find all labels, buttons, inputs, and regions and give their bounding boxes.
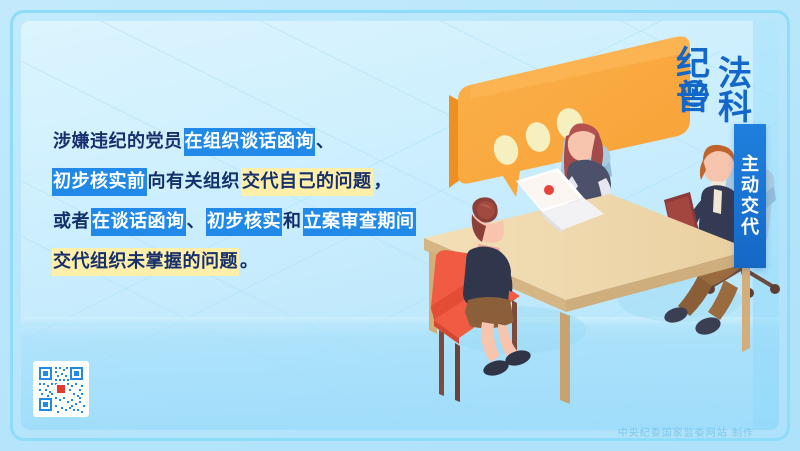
- footer-credit: 中央纪委国家监委网站 制作: [618, 424, 754, 439]
- ribbon-char-0: 主: [741, 156, 759, 174]
- text-segment-yellow: 交代组织未掌握的问题: [52, 248, 239, 276]
- text-segment-plain: 、: [186, 208, 207, 236]
- laptop-logo: [544, 185, 554, 195]
- statement-line-3: 或者在谈话函询、初步核实和立案审查期间: [52, 202, 432, 242]
- text-segment-yellow: 交代自己的问题: [241, 168, 373, 196]
- text-segment-plain: 向有关组织: [147, 168, 242, 196]
- text-segment-plain: 、: [315, 128, 336, 156]
- qr-code[interactable]: [33, 361, 89, 417]
- text-segment-lead: 涉嫌违纪的党员: [52, 128, 184, 156]
- main-statement-text: 涉嫌违纪的党员在组织谈话函询、初步核实前向有关组织交代自己的问题，或者在谈话函询…: [52, 122, 432, 282]
- play-icon: [681, 80, 708, 107]
- text-segment-plain: ，: [373, 168, 394, 196]
- brand-logo[interactable]: 纪 法 普 科: [674, 36, 774, 132]
- statement-line-2: 初步核实前向有关组织交代自己的问题，: [52, 162, 432, 202]
- statement-line-4: 交代组织未掌握的问题。: [52, 242, 432, 282]
- ribbon-char-2: 交: [741, 198, 759, 216]
- vertical-ribbon-banner: 主动交代: [734, 124, 766, 268]
- text-segment-plain: 或者: [52, 208, 91, 236]
- logo-char-ke: 科: [718, 80, 752, 129]
- text-segment-plain: 。: [239, 248, 260, 276]
- text-segment-plain: 和: [282, 208, 303, 236]
- text-segment-blue: 在谈话函询: [91, 208, 186, 236]
- poster-canvas: 涉嫌违纪的党员在组织谈话函询、初步核实前向有关组织交代自己的问题，或者在谈话函询…: [0, 0, 800, 451]
- text-segment-blue: 初步核实前: [52, 168, 147, 196]
- text-segment-blue: 立案审查期间: [303, 208, 416, 236]
- ribbon-char-3: 代: [741, 219, 759, 237]
- text-segment-blue: 在组织谈话函询: [184, 128, 316, 156]
- statement-line-1: 涉嫌违纪的党员在组织谈话函询、: [52, 122, 432, 162]
- text-segment-blue: 初步核实: [206, 208, 282, 236]
- ribbon-char-1: 动: [741, 177, 759, 195]
